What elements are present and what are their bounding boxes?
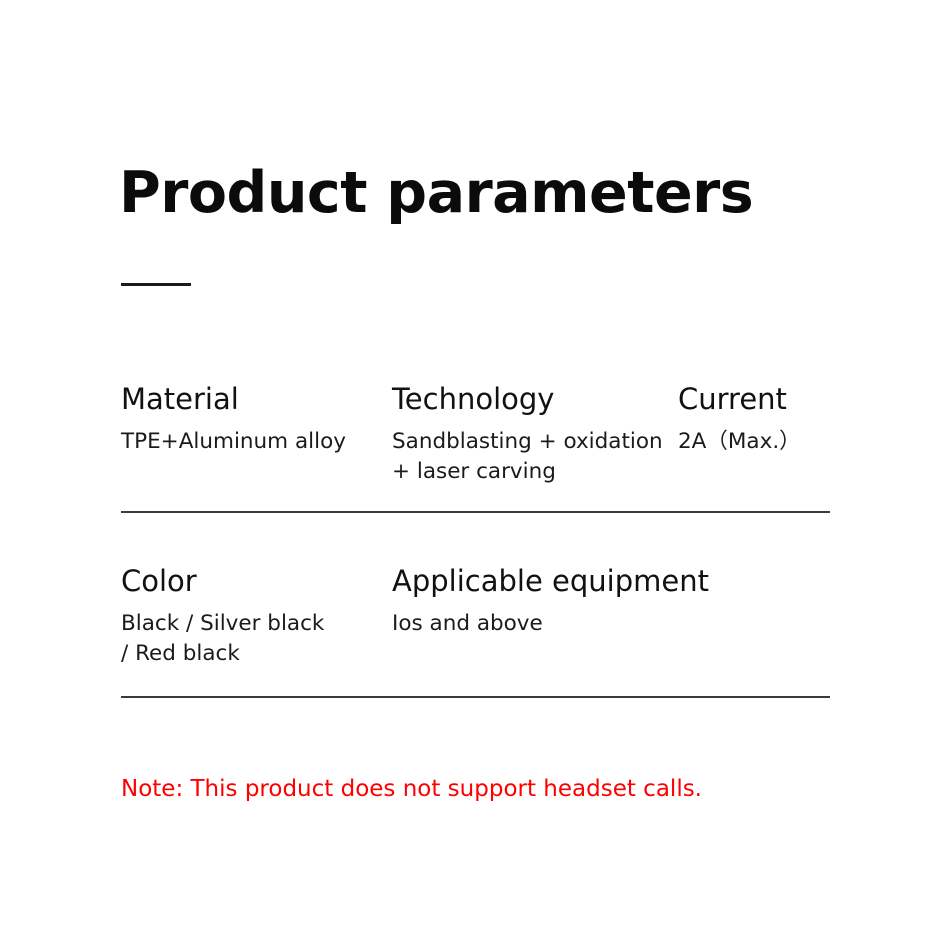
spec-value-color-line-2: / Red black (121, 639, 386, 669)
spec-value-current: 2A（Max.） (678, 427, 830, 457)
spec-row-2-values: Black / Silver black / Red black Ios and… (121, 609, 830, 695)
spec-value-applicable-equipment-line-1: Ios and above (392, 609, 672, 639)
product-parameters-page: Product parameters Material Technology C… (0, 0, 950, 940)
spec-header-color: Color (121, 565, 386, 598)
spec-value-color-line-1: Black / Silver black (121, 609, 386, 639)
page-title: Product parameters (119, 162, 753, 225)
spec-value-technology-line-2: + laser carving (392, 457, 672, 487)
spec-row-2: Color Applicable equipment Black / Silve… (121, 565, 830, 695)
spec-divider-1 (121, 511, 830, 513)
spec-value-technology-line-1: Sandblasting + oxidation (392, 427, 672, 457)
spec-value-material: TPE+Aluminum alloy (121, 427, 386, 457)
spec-header-applicable-equipment: Applicable equipment (392, 565, 672, 598)
title-accent-rule (121, 283, 191, 286)
spec-value-material-line-1: TPE+Aluminum alloy (121, 427, 386, 457)
spec-header-current: Current (678, 383, 830, 416)
spec-row-1-values: TPE+Aluminum alloy Sandblasting + oxidat… (121, 427, 830, 513)
spec-header-technology: Technology (392, 383, 672, 416)
footnote-warning: Note: This product does not support head… (121, 775, 702, 805)
spec-value-color: Black / Silver black / Red black (121, 609, 386, 669)
spec-divider-2 (121, 696, 830, 698)
spec-header-material: Material (121, 383, 386, 416)
spec-value-applicable-equipment: Ios and above (392, 609, 672, 639)
spec-value-technology: Sandblasting + oxidation + laser carving (392, 427, 672, 487)
spec-row-1: Material Technology Current TPE+Aluminum… (121, 383, 830, 513)
spec-value-current-line-1: 2A（Max.） (678, 427, 830, 457)
